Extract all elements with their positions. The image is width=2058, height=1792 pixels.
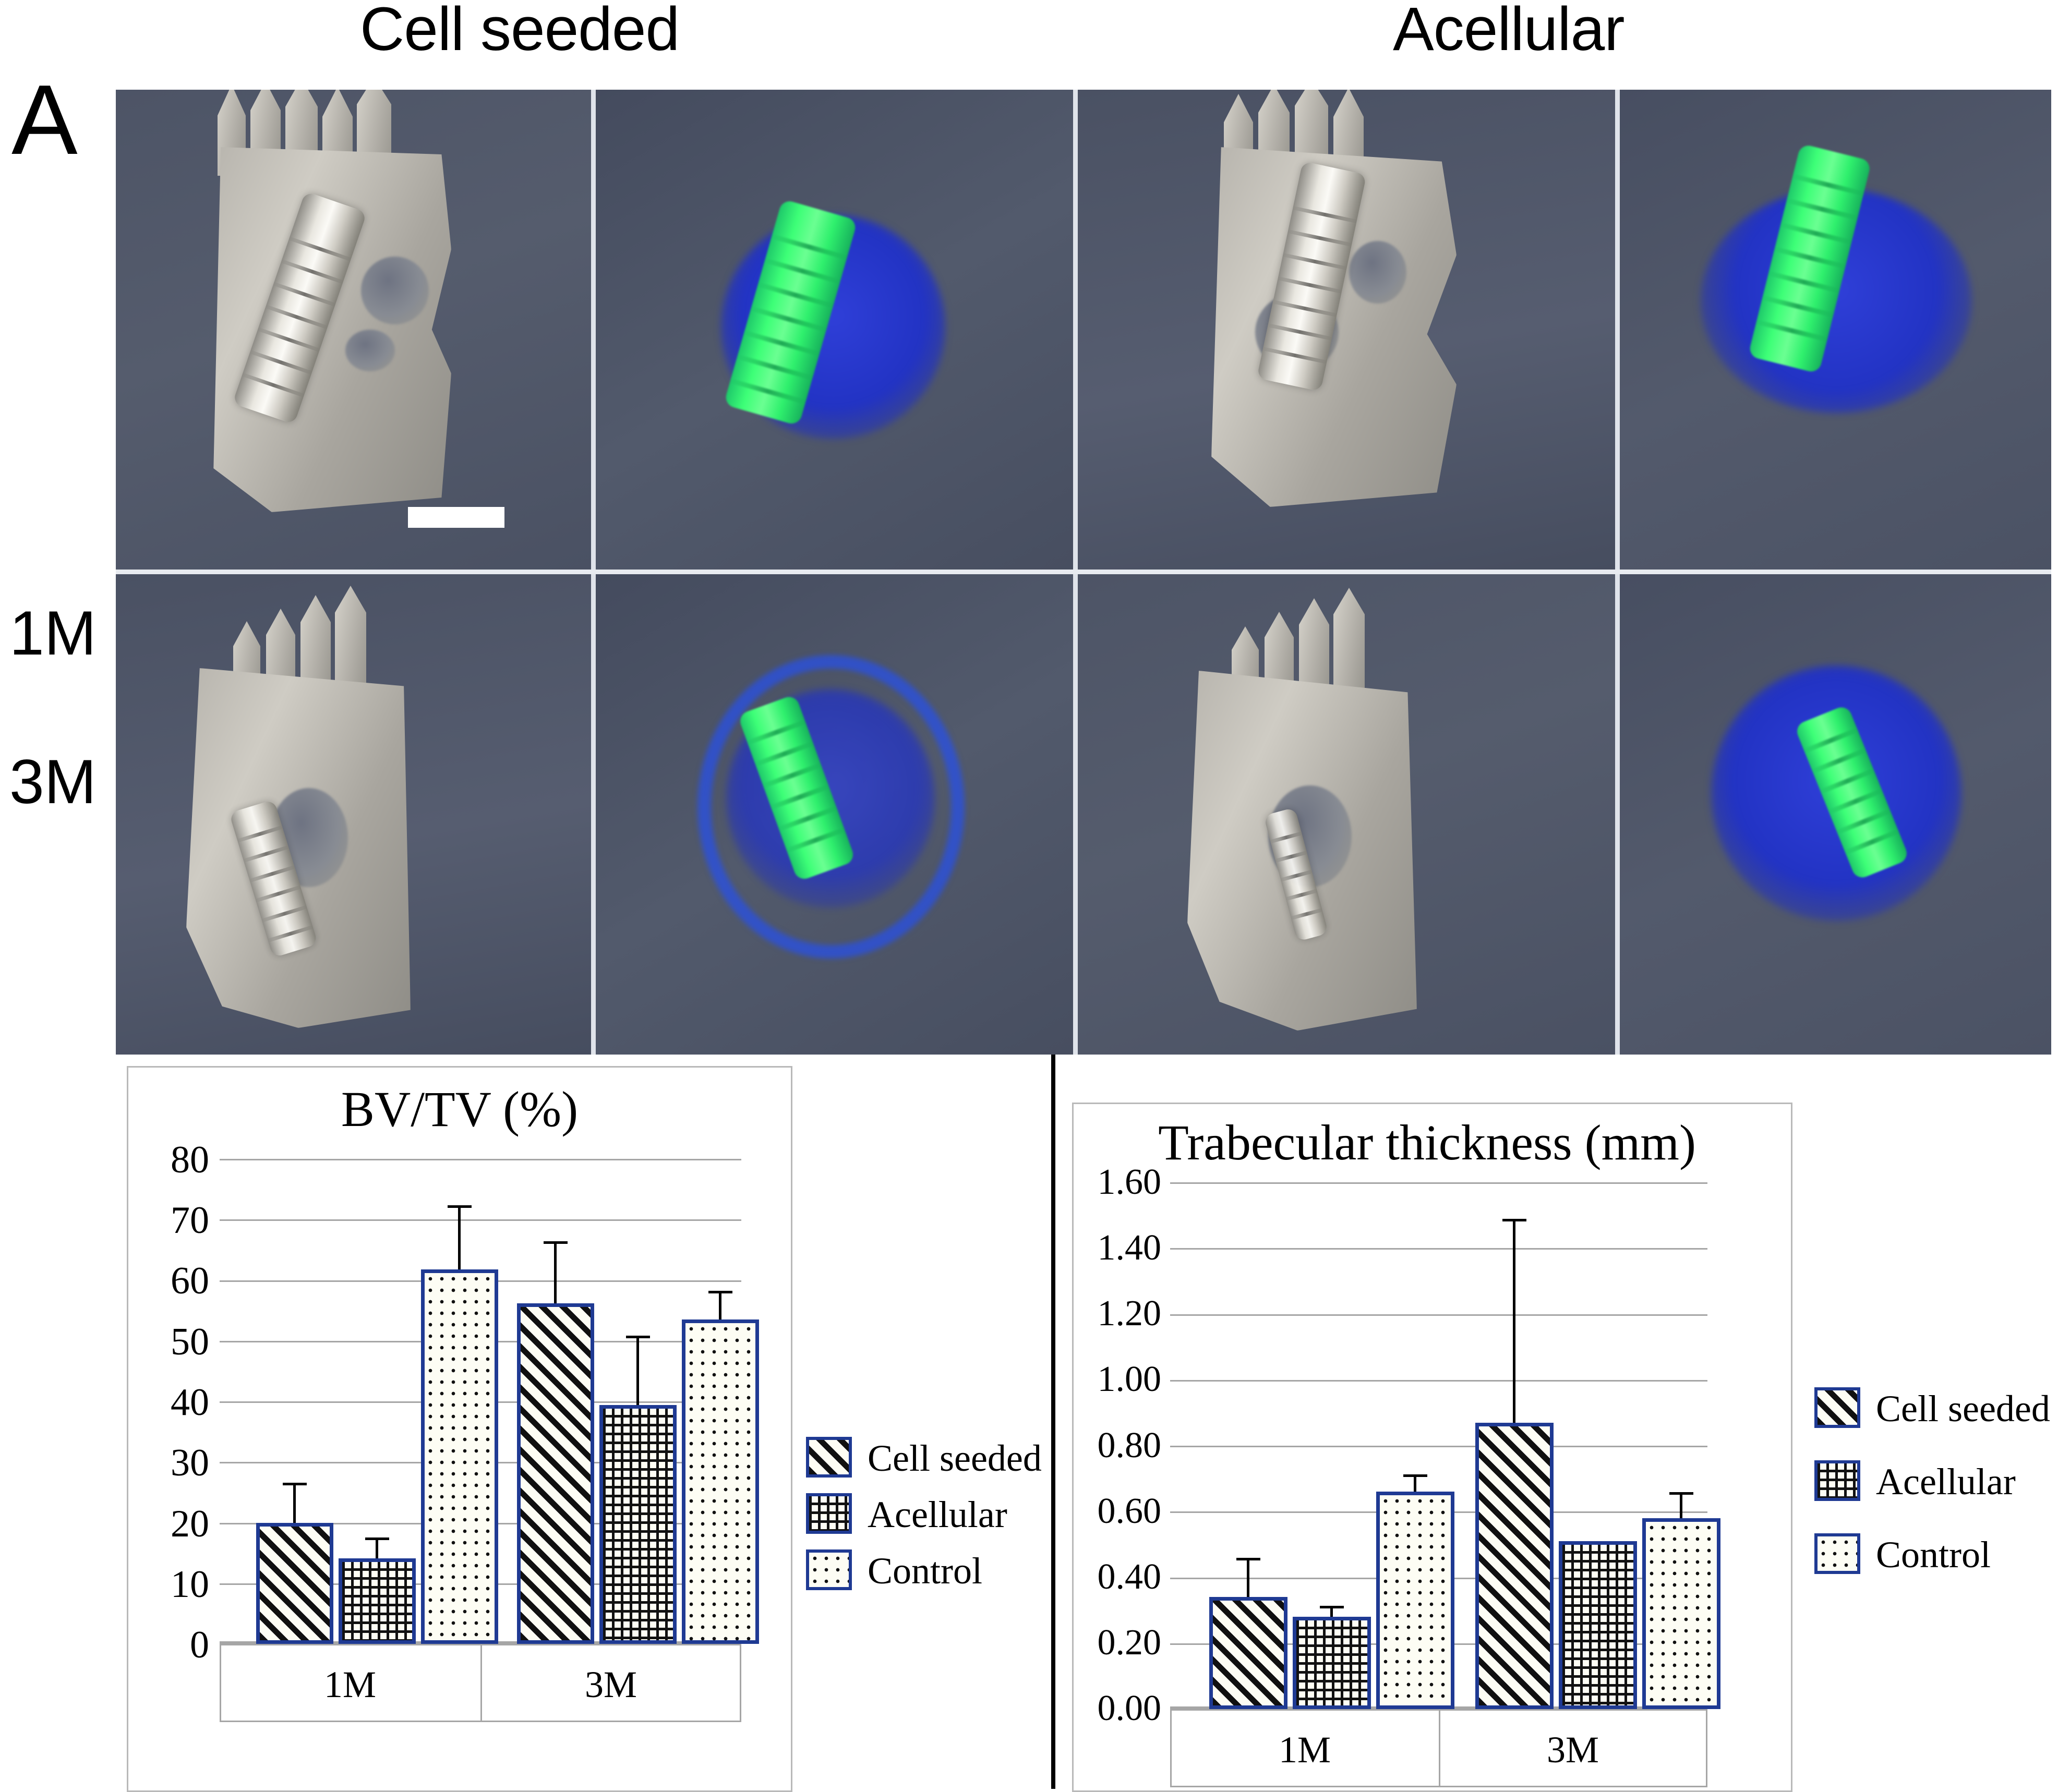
bar-3m-acellular-tb	[1559, 1541, 1637, 1709]
legend-swatch-control	[806, 1549, 852, 1590]
ytick-bv-30: 30	[118, 1441, 209, 1485]
ytick-bv-40: 40	[118, 1381, 209, 1425]
legend-swatch-cell-seeded	[806, 1437, 852, 1478]
microct-acellular-3m-greyscale	[1078, 574, 1615, 1055]
plot-area-trabecular-thickness: 1.60 1.40 1.20 1.00 0.80 0.60 0.40 0.20 …	[1170, 1182, 1707, 1709]
ytick-bv-0: 0	[118, 1623, 209, 1667]
ytick-bv-10: 10	[118, 1563, 209, 1607]
microct-acellular-1m-greyscale	[1078, 90, 1615, 570]
plot-area-bv-tv: 80 70 60 50 40 30 20 10 0	[220, 1159, 741, 1644]
microct-cell-seeded-1m-heatmap	[596, 90, 1073, 570]
chart-title-trabecular-thickness: Trabecular thickness (mm)	[1068, 1113, 1786, 1171]
ytick-tb-140: 1.40	[1049, 1227, 1161, 1269]
ytick-tb-040: 0.40	[1049, 1556, 1161, 1598]
grid-divider-vertical-1b	[591, 574, 596, 1055]
category-axis-trabecular-thickness: 1M 3M	[1170, 1709, 1707, 1787]
legend-swatch-acellular-tb	[1814, 1460, 1860, 1501]
ytick-tb-080: 0.80	[1049, 1425, 1161, 1467]
column-header-acellular: Acellular	[1393, 0, 1624, 65]
legend-label-cell-seeded-tb: Cell seeded	[1876, 1387, 2050, 1431]
ytick-bv-20: 20	[118, 1502, 209, 1546]
ytick-tb-120: 1.20	[1049, 1293, 1161, 1335]
legend-label-acellular: Acellular	[868, 1493, 1007, 1536]
grid-divider-vertical-3b	[1615, 574, 1620, 1055]
bar-1m-control-tb	[1376, 1492, 1454, 1709]
panel-b-charts: BV/TV (%) 80 70 60 50 40 30 20 10 0	[0, 1055, 2058, 1789]
bar-1m-acellular	[339, 1558, 416, 1644]
scale-bar	[408, 507, 504, 528]
legend-label-control-tb: Control	[1876, 1533, 1991, 1577]
chart-bv-tv: BV/TV (%) 80 70 60 50 40 30 20 10 0	[127, 1066, 792, 1792]
ytick-tb-020: 0.20	[1049, 1622, 1161, 1664]
bar-1m-acellular-tb	[1293, 1617, 1371, 1709]
bar-3m-acellular	[599, 1405, 677, 1644]
microct-acellular-1m-heatmap	[1620, 90, 2051, 570]
microct-cell-seeded-3m-greyscale	[116, 574, 591, 1055]
microct-image-grid	[116, 90, 2051, 1055]
chart-trabecular-thickness: Trabecular thickness (mm) 1.60 1.40 1.20…	[1072, 1103, 1792, 1792]
bar-3m-control	[682, 1319, 759, 1644]
column-header-cell-seeded: Cell seeded	[360, 0, 679, 65]
ytick-bv-60: 60	[118, 1259, 209, 1303]
microct-cell-seeded-1m-greyscale	[116, 90, 591, 570]
category-label-3m: 3M	[352, 1663, 870, 1706]
bar-1m-cell-seeded-tb	[1209, 1597, 1287, 1709]
legend-label-acellular-tb: Acellular	[1876, 1460, 2016, 1504]
legend-swatch-control-tb	[1814, 1533, 1860, 1574]
microct-cell-seeded-3m-heatmap	[596, 574, 1073, 1055]
bar-1m-cell-seeded	[256, 1523, 333, 1644]
grid-divider-vertical-center-b	[1073, 574, 1078, 1055]
microct-acellular-3m-heatmap	[1620, 574, 2051, 1055]
panel-letter-a: A	[11, 70, 78, 169]
legend-label-cell-seeded: Cell seeded	[868, 1437, 1042, 1480]
ytick-bv-50: 50	[118, 1320, 209, 1364]
ytick-bv-80: 80	[118, 1138, 209, 1182]
chart-title-bv-tv: BV/TV (%)	[128, 1080, 791, 1138]
legend-swatch-acellular	[806, 1493, 852, 1534]
legend-label-control: Control	[868, 1549, 982, 1593]
category-axis-bv-tv: 1M 3M	[220, 1644, 741, 1722]
ytick-tb-000: 0.00	[1049, 1688, 1161, 1729]
row-label-3m: 3M	[9, 746, 97, 818]
category-label-3m-tb: 3M	[1306, 1728, 1840, 1772]
bar-3m-cell-seeded	[517, 1303, 594, 1644]
ytick-tb-060: 0.60	[1049, 1491, 1161, 1532]
ytick-bv-70: 70	[118, 1198, 209, 1243]
bar-3m-cell-seeded-tb	[1475, 1423, 1554, 1709]
ytick-tb-100: 1.00	[1049, 1359, 1161, 1400]
grid-divider-horizontal	[116, 570, 2051, 574]
row-label-1m: 1M	[9, 597, 97, 669]
legend-swatch-cell-seeded-tb	[1814, 1387, 1860, 1428]
bar-1m-control	[421, 1269, 498, 1644]
ytick-tb-160: 1.60	[1049, 1161, 1161, 1203]
bar-3m-control-tb	[1642, 1518, 1720, 1709]
